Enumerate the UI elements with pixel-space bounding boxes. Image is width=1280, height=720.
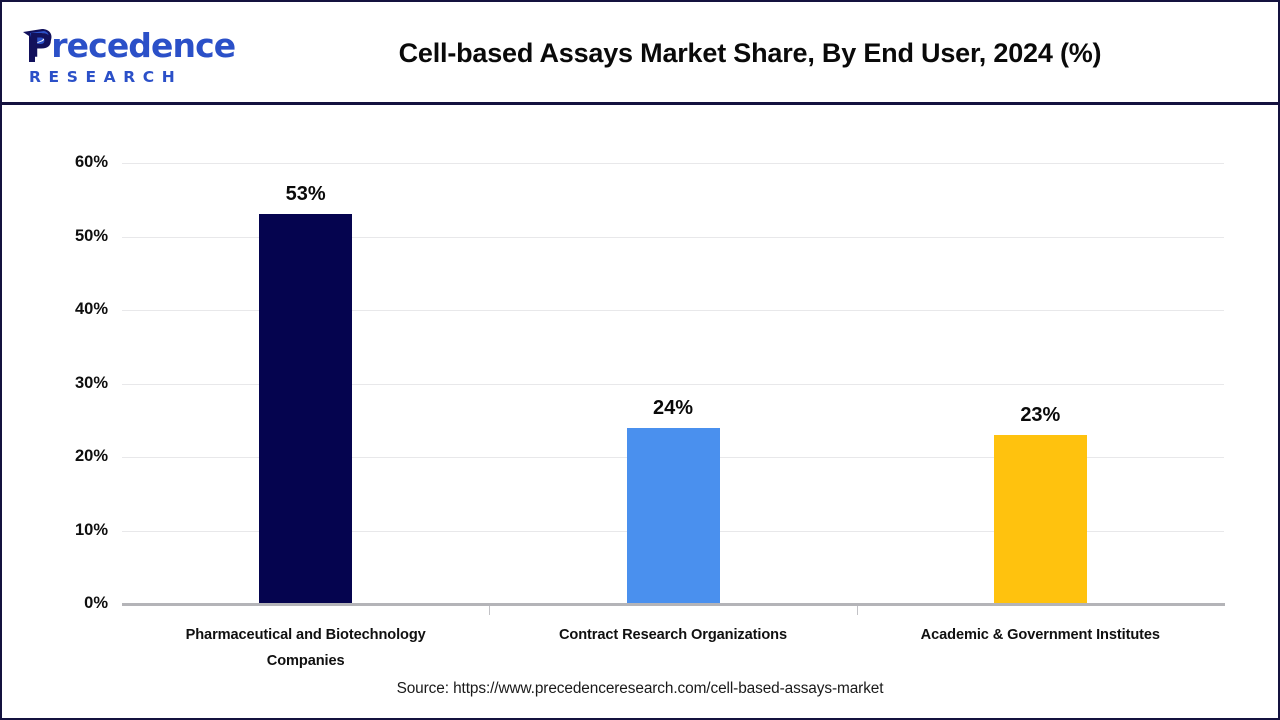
page-header: Precedence RESEARCH Cell-based Assays Ma… (2, 2, 1278, 105)
page-title: Cell-based Assays Market Share, By End U… (242, 38, 1258, 69)
source-caption: Source: https://www.precedenceresearch.c… (2, 680, 1278, 698)
plot-area: 53%24%23% (122, 163, 1224, 604)
y-axis-tick-label: 30% (38, 375, 108, 391)
x-axis-tick (489, 606, 490, 615)
bar-1[interactable] (259, 214, 352, 604)
y-axis-tick-label: 10% (38, 522, 108, 538)
bar-value-label-3: 23% (960, 405, 1120, 425)
y-axis-tick-label: 60% (38, 154, 108, 170)
chart-page: Precedence RESEARCH Cell-based Assays Ma… (0, 0, 1280, 720)
y-axis-tick-label: 50% (38, 228, 108, 244)
x-axis-line (122, 603, 1225, 606)
bar-value-label-1: 53% (226, 184, 386, 204)
x-axis-category-label-3: Academic & Government Institutes (857, 622, 1224, 648)
x-axis-tick (857, 606, 858, 615)
category-label-line: Pharmaceutical and Biotechnology (122, 622, 489, 648)
y-axis-tick-label: 0% (38, 595, 108, 611)
y-axis-tick-label: 40% (38, 301, 108, 317)
bar-3[interactable] (994, 435, 1087, 604)
y-axis-tick-label: 20% (38, 448, 108, 464)
x-axis-category-label-2: Contract Research Organizations (489, 622, 856, 648)
bar-value-label-2: 24% (593, 398, 753, 418)
bar-2[interactable] (627, 428, 720, 604)
category-label-line: Companies (122, 648, 489, 674)
y-axis-labels: 0%10%20%30%40%50%60% (30, 2, 108, 720)
x-axis-category-label-1: Pharmaceutical and BiotechnologyCompanie… (122, 622, 489, 674)
gridline (122, 163, 1224, 164)
